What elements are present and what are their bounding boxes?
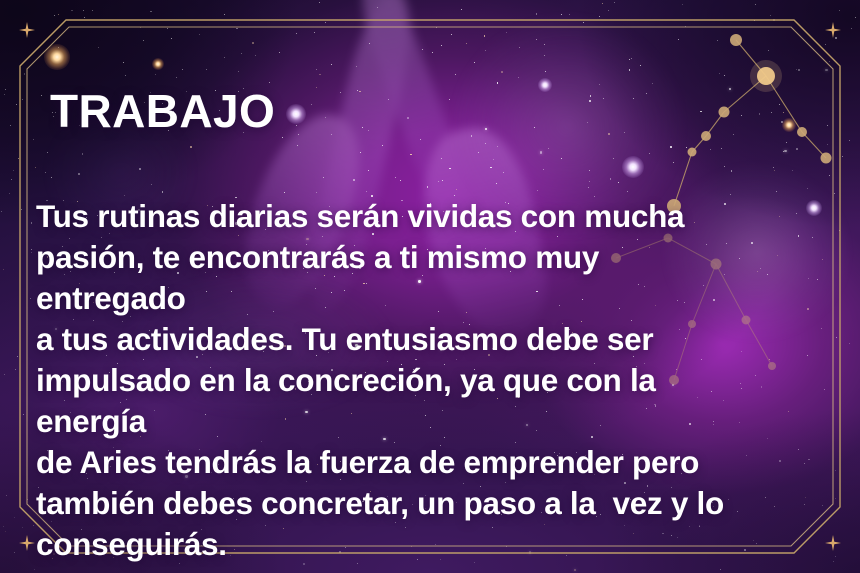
bright-star [622, 156, 644, 178]
sparkle-icon-bottom-right [825, 535, 841, 551]
horoscope-card: TRABAJO Tus rutinas diarias serán vivida… [0, 0, 860, 573]
card-heading: TRABAJO [50, 88, 275, 134]
sparkle-icon-bottom-left [19, 535, 35, 551]
sparkle-icon-top-right [825, 22, 841, 38]
bright-star [44, 44, 70, 70]
constellation-top-right [660, 24, 860, 214]
card-body-text: Tus rutinas diarias serán vividas con mu… [36, 196, 736, 565]
sparkle-icon-top-left [19, 22, 35, 38]
bright-star [286, 104, 306, 124]
bright-star [152, 58, 164, 70]
bright-star [538, 78, 552, 92]
